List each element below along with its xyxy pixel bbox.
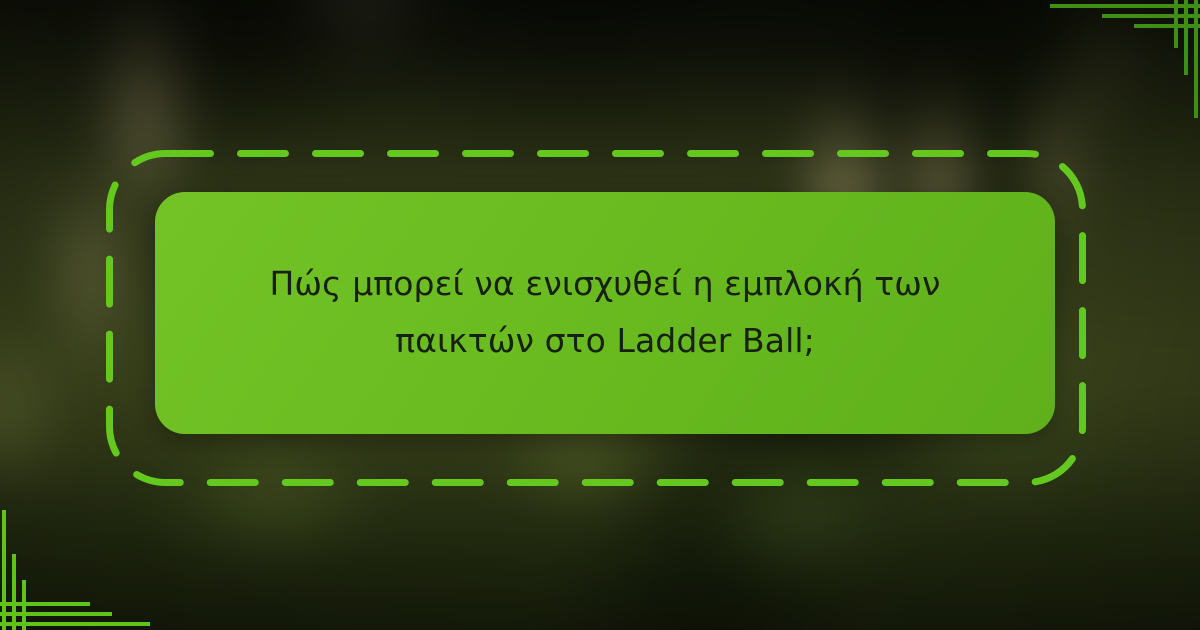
corner-lines-top-right [1050,0,1200,118]
ornament-line-h3 [0,602,90,606]
ornament-line-v2 [1184,0,1188,75]
quote-card: Πώς μπορεί να ενισχυθεί η εμπλοκή των πα… [155,192,1055,434]
ornament-line-h2 [0,612,112,616]
social-card-canvas: Πώς μπορεί να ενισχυθεί η εμπλοκή των πα… [0,0,1200,630]
ornament-line-h3 [1134,24,1200,28]
ornament-line-v2 [12,554,16,630]
ornament-line-h1 [1050,4,1200,8]
corner-lines-bottom-left [0,510,150,630]
quote-text: Πώς μπορεί να ενισχυθεί η εμπλοκή των πα… [245,256,965,370]
ornament-line-h2 [1102,14,1200,18]
ornament-line-h1 [0,622,150,626]
